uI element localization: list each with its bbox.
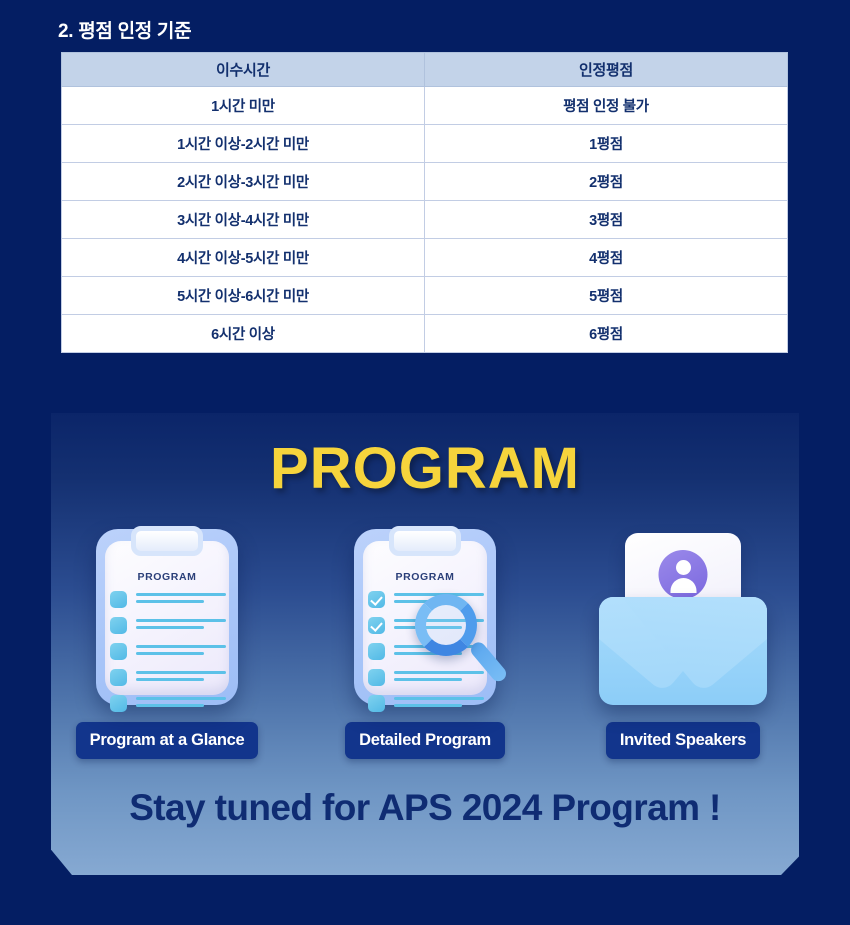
table-row: 4시간 이상-5시간 미만 4평점 <box>62 239 788 277</box>
cell-credits: 4평점 <box>425 239 788 277</box>
cell-hours: 1시간 미만 <box>62 87 425 125</box>
criteria-table-wrapper: 이수시간 인정평점 1시간 미만 평점 인정 불가 1시간 이상-2시간 미만 … <box>61 52 788 353</box>
checkbox-icon <box>110 669 127 686</box>
program-tagline: Stay tuned for APS 2024 Program ! <box>51 787 799 829</box>
envelope-person-icon <box>596 525 771 710</box>
checkbox-icon <box>110 643 127 660</box>
checkbox-icon <box>110 695 127 712</box>
cell-credits: 6평점 <box>425 315 788 353</box>
checkbox-icon <box>368 643 385 660</box>
program-card: PROGRAM PROGRAM <box>51 413 799 875</box>
cell-hours: 1시간 이상-2시간 미만 <box>62 125 425 163</box>
program-at-a-glance-button[interactable]: Program at a Glance <box>76 722 259 759</box>
magnifier-icon <box>415 594 511 690</box>
table-header-row: 이수시간 인정평점 <box>62 53 788 87</box>
clipboard-clip-icon <box>131 526 203 556</box>
clipboard-label: PROGRAM <box>354 571 496 583</box>
table-row: 6시간 이상 6평점 <box>62 315 788 353</box>
detailed-program-button[interactable]: Detailed Program <box>345 722 505 759</box>
program-heading: PROGRAM <box>51 435 799 502</box>
cell-hours: 3시간 이상-4시간 미만 <box>62 201 425 239</box>
cell-credits: 5평점 <box>425 277 788 315</box>
program-item-speakers[interactable]: Invited Speakers <box>588 525 778 759</box>
column-header-hours: 이수시간 <box>62 53 425 87</box>
clipboard-icon: PROGRAM <box>80 525 255 710</box>
table-row: 1시간 미만 평점 인정 불가 <box>62 87 788 125</box>
envelope-body-icon <box>599 597 767 705</box>
cell-credits: 3평점 <box>425 201 788 239</box>
criteria-table: 이수시간 인정평점 1시간 미만 평점 인정 불가 1시간 이상-2시간 미만 … <box>61 52 788 353</box>
clipboard-label: PROGRAM <box>96 571 238 583</box>
table-row: 3시간 이상-4시간 미만 3평점 <box>62 201 788 239</box>
checkbox-checked-icon <box>368 617 385 634</box>
clipboard-search-icon: PROGRAM <box>338 525 513 710</box>
checkbox-icon <box>368 695 385 712</box>
checkbox-icon <box>110 617 127 634</box>
cell-hours: 2시간 이상-3시간 미만 <box>62 163 425 201</box>
cell-hours: 4시간 이상-5시간 미만 <box>62 239 425 277</box>
cell-hours: 5시간 이상-6시간 미만 <box>62 277 425 315</box>
column-header-credits: 인정평점 <box>425 53 788 87</box>
checkbox-icon <box>368 669 385 686</box>
cell-credits: 2평점 <box>425 163 788 201</box>
cell-credits: 평점 인정 불가 <box>425 87 788 125</box>
page-title: 2. 평점 인정 기준 <box>58 16 191 43</box>
cell-credits: 1평점 <box>425 125 788 163</box>
page-root: 2. 평점 인정 기준 이수시간 인정평점 1시간 미만 평점 인정 불가 1시… <box>0 0 850 925</box>
table-row: 5시간 이상-6시간 미만 5평점 <box>62 277 788 315</box>
checkbox-checked-icon <box>368 591 385 608</box>
cell-hours: 6시간 이상 <box>62 315 425 353</box>
table-row: 2시간 이상-3시간 미만 2평점 <box>62 163 788 201</box>
program-item-glance[interactable]: PROGRAM Program at a Glance <box>72 525 262 759</box>
clipboard-clip-icon <box>389 526 461 556</box>
avatar-icon <box>659 550 708 599</box>
invited-speakers-button[interactable]: Invited Speakers <box>606 722 760 759</box>
program-icons-row: PROGRAM Program at a Glance <box>51 525 799 759</box>
table-row: 1시간 이상-2시간 미만 1평점 <box>62 125 788 163</box>
program-item-detailed[interactable]: PROGRAM Detailed Progra <box>330 525 520 759</box>
checkbox-icon <box>110 591 127 608</box>
